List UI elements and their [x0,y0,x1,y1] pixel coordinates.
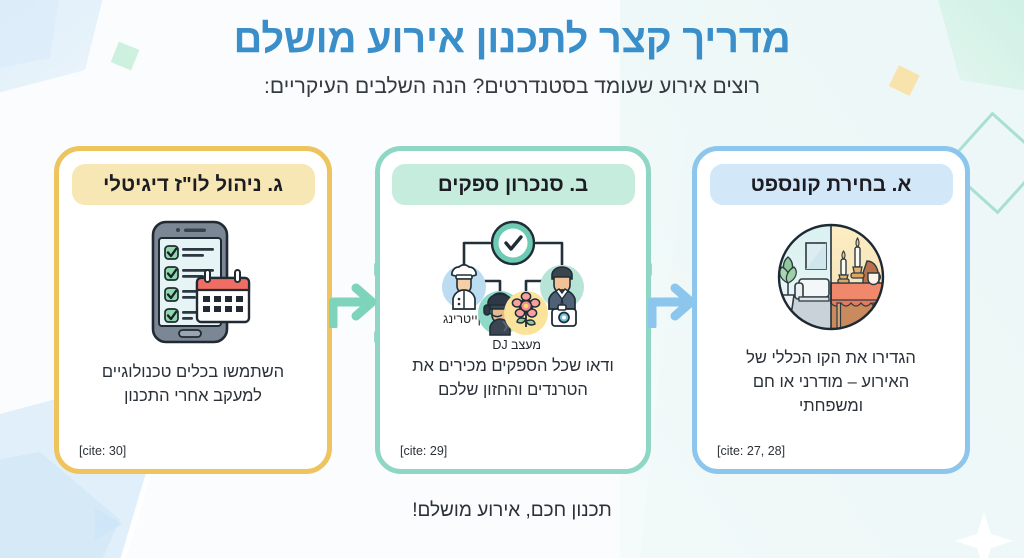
vendor-label-dj: DJ [492,338,507,349]
step-card-schedule-body: השתמשו בכלים טכנולוגיים למעקב אחרי התכנו… [82,361,304,409]
camera-icon [552,305,576,326]
step-card-concept[interactable]: א. בחירת קונספט [692,146,970,474]
step-card-schedule[interactable]: ג. ניהול לו"ז דיגיטלי [54,146,332,474]
step-card-vendors[interactable]: ב. סנכרון ספקים [375,146,651,474]
concept-room-circle-icon [775,219,887,335]
step-card-concept-cite: [cite: 27, 28] [717,444,785,458]
step-card-concept-heading: א. בחירת קונספט [710,164,953,205]
step-card-schedule-heading: ג. ניהול לו"ז דיגיטלי [72,164,315,205]
vendor-label-designer: מעצב [511,338,541,349]
vendor-network-icon: קייטרינג DJ [404,213,622,349]
step-card-schedule-cite: [cite: 30] [79,444,126,458]
page-title: מדריך קצר לתכנון אירוע מושלם [0,16,1024,62]
step-card-vendors-heading: ב. סנכרון ספקים [392,164,635,205]
step-card-vendors-cite: [cite: 29] [400,444,447,458]
footer-note: תכנון חכם, אירוע מושלם! [0,500,1024,522]
step-card-concept-body: הגדירו את הקו הכללי של האירוע – מודרני א… [720,347,942,419]
step-card-vendors-body: ודאו שכל הספקים מכירים את הטרנדים והחזון… [402,355,624,403]
arrow-vendors-to-schedule [329,276,383,333]
header: מדריך קצר לתכנון אירוע מושלם רוצים אירוע… [0,16,1024,99]
calendar-icon [197,270,249,322]
phone-checklist-calendar-icon [131,215,255,347]
steps-row: א. בחירת קונספט [0,146,1024,474]
page-subtitle: רוצים אירוע שעומד בסטנדרטים? הנה השלבים … [0,75,1024,99]
arrow-concept-to-vendors [648,276,702,333]
